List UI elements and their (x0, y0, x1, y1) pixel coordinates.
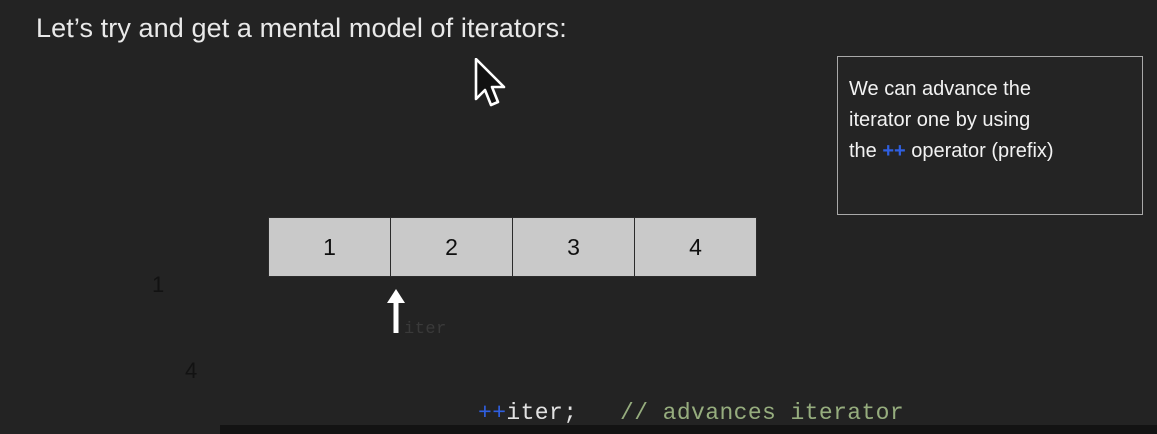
slide-canvas: Let’s try and get a mental model of iter… (0, 0, 1157, 434)
faint-number-bottom: 4 (185, 358, 197, 384)
mouse-cursor-icon (474, 58, 508, 108)
callout-line-1: We can advance the (849, 74, 1139, 105)
array-cell: 4 (634, 217, 757, 277)
array-cell: 3 (512, 217, 635, 277)
callout-line-3-suffix: operator (prefix) (906, 140, 1054, 162)
code-increment-operator: ++ (478, 400, 506, 426)
code-gap (577, 400, 620, 426)
iterator-label: iter (404, 320, 447, 339)
callout-text: We can advance the iterator one by using… (849, 74, 1139, 167)
callout-line-3: the ++ operator (prefix) (849, 136, 1139, 167)
code-statement: iter; (506, 400, 577, 426)
faint-number-top: 1 (152, 272, 164, 298)
array-cell: 2 (390, 217, 513, 277)
callout-line-3-prefix: the (849, 140, 882, 162)
code-line: ++iter; // advances iterator (478, 400, 904, 426)
array-diagram: 1 2 3 4 (268, 217, 757, 277)
code-comment: // advances iterator (620, 400, 904, 426)
callout-line-2: iterator one by using (849, 105, 1139, 136)
increment-operator-token: ++ (882, 140, 905, 162)
code-strip (220, 425, 1157, 434)
page-title: Let’s try and get a mental model of iter… (36, 10, 567, 46)
callout-box: We can advance the iterator one by using… (837, 56, 1143, 215)
array-cell: 1 (268, 217, 391, 277)
